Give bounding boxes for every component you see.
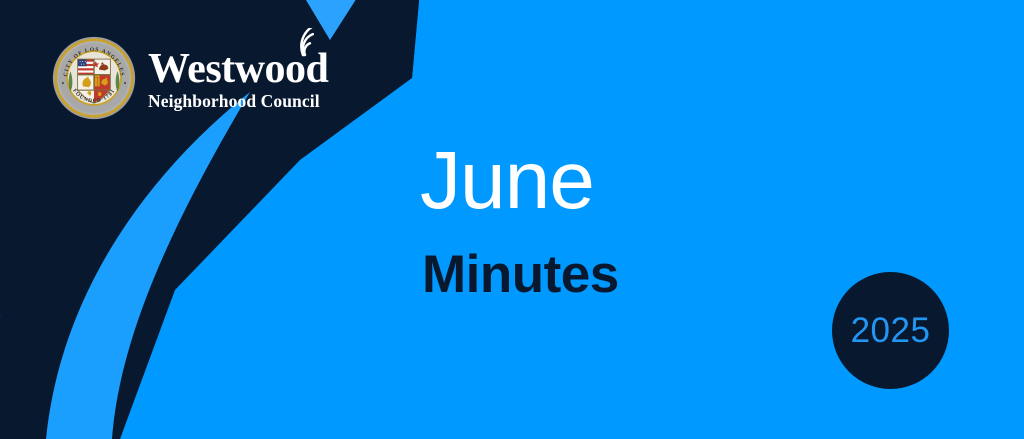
city-of-los-angeles-seal-icon: CITY OF LOS ANGELES FOUNDED 1781 [52,36,136,120]
title-month: June [420,140,619,222]
year-badge: 2025 [832,272,949,389]
year-badge-label: 2025 [851,313,931,348]
banner: CITY OF LOS ANGELES FOUNDED 1781 Westwoo… [0,0,1024,439]
title-block: June Minutes [420,140,619,301]
wordmark-main-text: Westwood [148,50,328,90]
wordmark-sub-text: Neighborhood Council [148,91,320,111]
westwood-wordmark: Westwood Neighborhood Council [148,44,328,111]
title-document-type: Minutes [422,248,619,301]
logo-lockup: CITY OF LOS ANGELES FOUNDED 1781 Westwoo… [52,36,328,120]
